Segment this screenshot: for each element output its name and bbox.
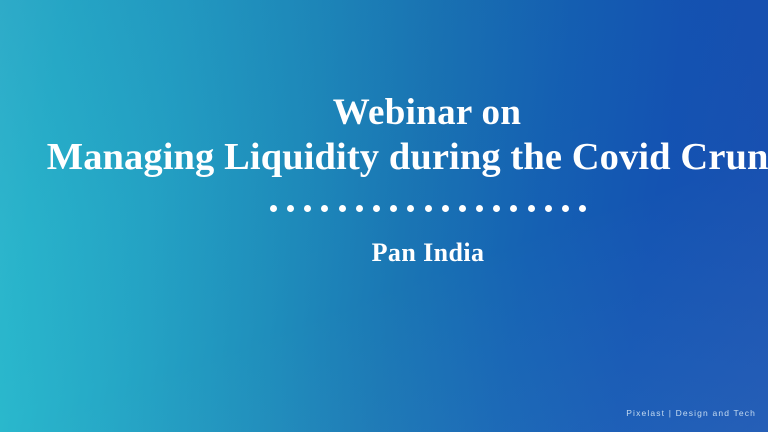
divider-dot bbox=[493, 205, 500, 212]
divider-dot bbox=[373, 205, 380, 212]
divider-dot bbox=[390, 205, 397, 212]
divider-dot bbox=[459, 205, 466, 212]
dot-divider bbox=[44, 205, 768, 212]
webinar-title-slide: Webinar on Managing Liquidity during the… bbox=[0, 0, 768, 432]
divider-dot bbox=[321, 205, 328, 212]
slide-content: Webinar on Managing Liquidity during the… bbox=[0, 0, 768, 432]
divider-dot bbox=[545, 205, 552, 212]
divider-dot bbox=[287, 205, 294, 212]
divider-dot bbox=[528, 205, 535, 212]
footer-brand: Pixelast | Design and Tech bbox=[626, 408, 756, 418]
divider-dot bbox=[579, 205, 586, 212]
title-block: Webinar on Managing Liquidity during the… bbox=[0, 92, 768, 180]
divider-dot bbox=[270, 205, 277, 212]
divider-dot bbox=[356, 205, 363, 212]
page-title-line-1: Webinar on bbox=[43, 92, 768, 135]
divider-dot bbox=[442, 205, 449, 212]
divider-dot bbox=[425, 205, 432, 212]
divider-dot bbox=[339, 205, 346, 212]
divider-dot bbox=[510, 205, 517, 212]
divider-dot bbox=[562, 205, 569, 212]
divider-dot bbox=[304, 205, 311, 212]
divider-dot bbox=[476, 205, 483, 212]
page-title-line-2: Managing Liquidity during the Covid Crun… bbox=[43, 135, 768, 180]
subtitle: Pan India bbox=[44, 238, 768, 268]
divider-dot bbox=[407, 205, 414, 212]
